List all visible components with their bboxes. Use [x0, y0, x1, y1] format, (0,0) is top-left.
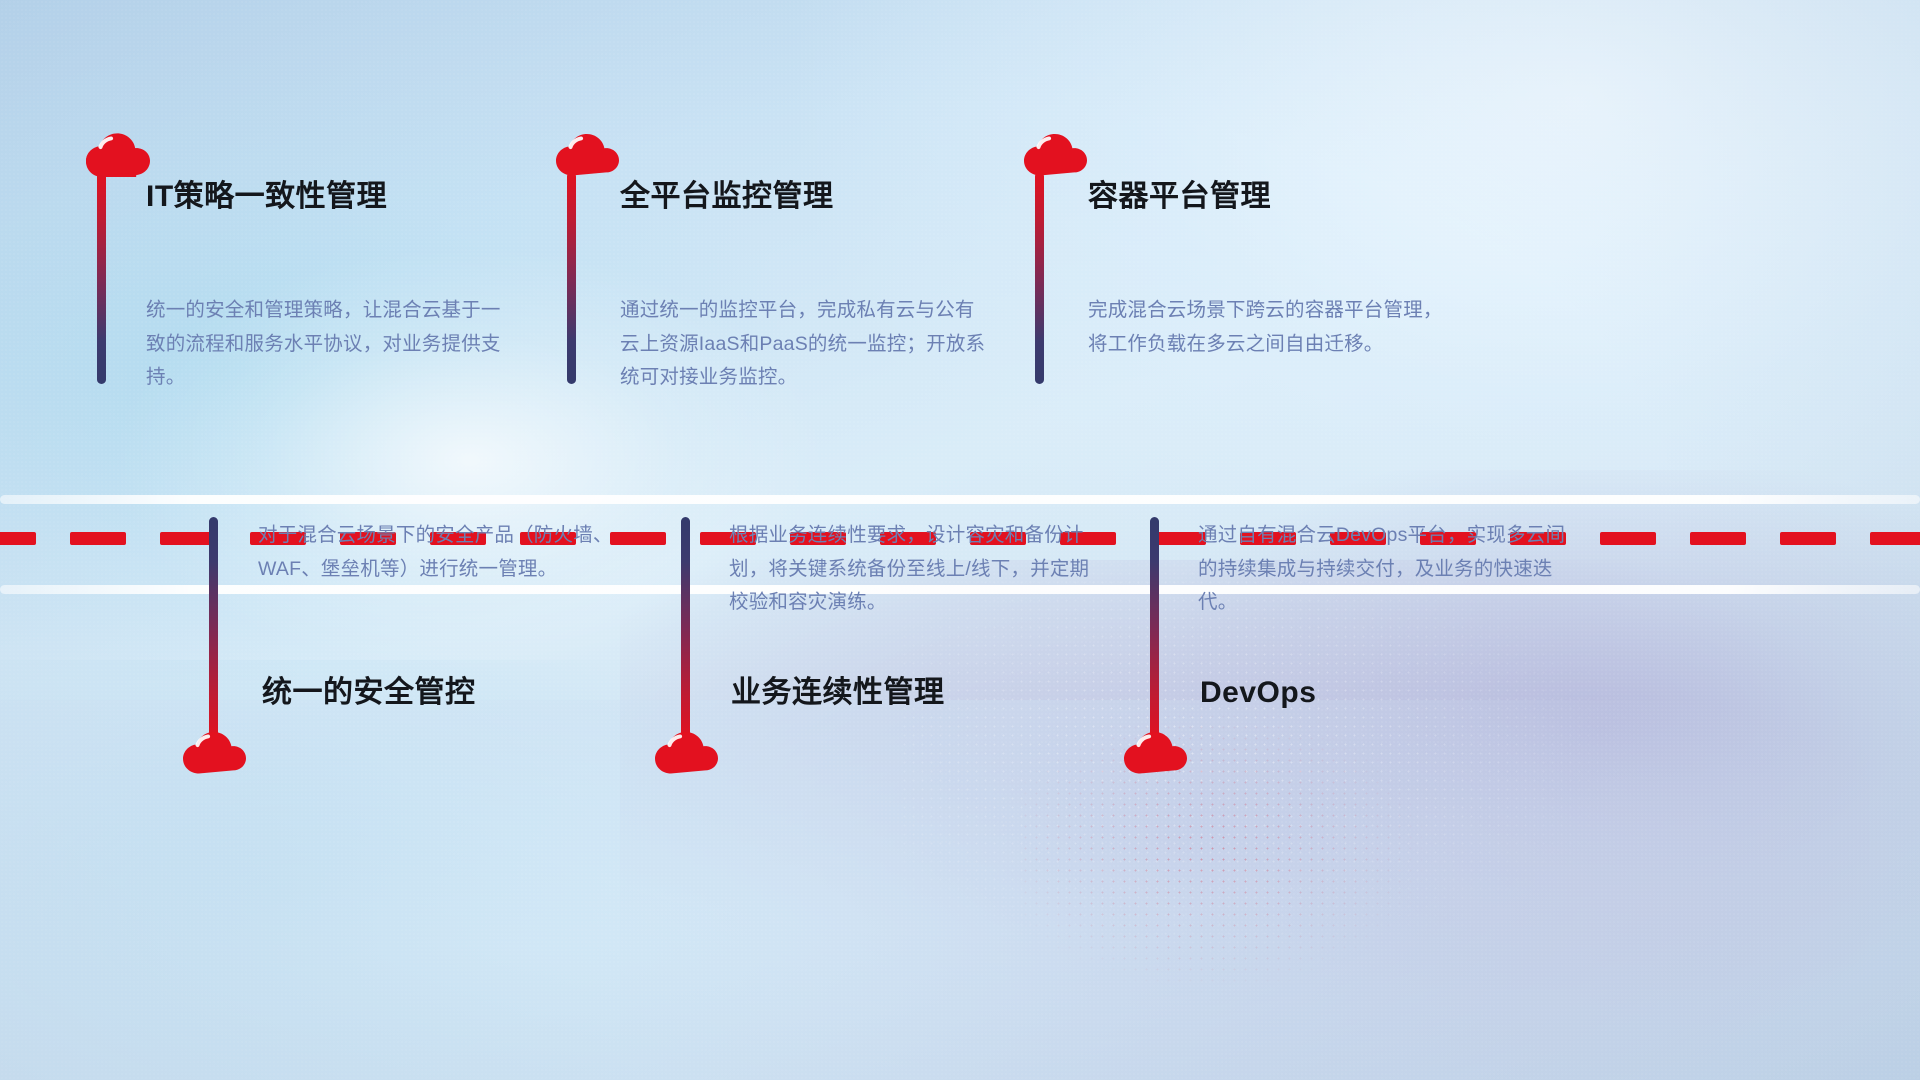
bottom-item-2-body: 根据业务连续性要求，设计容灾和备份计划，将关键系统备份至线上/线下，并定期校验和… — [729, 519, 1101, 620]
divider-rule-top — [0, 495, 1920, 504]
bottom-item-1-title: 统一的安全管控 — [262, 678, 476, 708]
timeline-pin — [1035, 172, 1044, 384]
cloud-icon — [554, 130, 620, 178]
divider-dash — [1780, 532, 1836, 545]
bottom-item-3-body: 通过自有混合云DevOps平台，实现多云间的持续集成与持续交付，及业务的快速迭代… — [1198, 519, 1570, 620]
bottom-item-2-title: 业务连续性管理 — [731, 678, 945, 708]
top-item-2-title: 全平台监控管理 — [620, 182, 834, 212]
top-item-2-body: 通过统一的监控平台，完成私有云与公有云上资源IaaS和PaaS的统一监控；开放系… — [620, 294, 992, 395]
top-item-1-body: 统一的安全和管理策略，让混合云基于一致的流程和服务水平协议，对业务提供支持。 — [146, 294, 506, 395]
cloud-icon — [1122, 728, 1188, 776]
top-item-3-title: 容器平台管理 — [1088, 182, 1271, 212]
bottom-item-3-title: DevOps — [1200, 678, 1316, 708]
cloud-icon — [653, 728, 719, 776]
timeline-pin — [1150, 517, 1159, 740]
divider-dash — [610, 532, 666, 545]
cloud-icon — [84, 130, 150, 178]
top-item-1-title: IT策略一致性管理 — [146, 182, 387, 212]
timeline-pin — [681, 517, 690, 740]
cloud-icon — [1022, 130, 1088, 178]
cloud-icon — [181, 728, 247, 776]
divider-dash — [160, 532, 216, 545]
timeline-pin — [209, 517, 218, 740]
top-item-3-body: 完成混合云场景下跨云的容器平台管理，将工作负载在多云之间自由迁移。 — [1088, 294, 1460, 361]
bottom-item-1-body: 对于混合云场景下的安全产品（防火墙、WAF、堡垒机等）进行统一管理。 — [258, 519, 618, 586]
divider-dash — [70, 532, 126, 545]
divider-dash — [1870, 532, 1920, 545]
divider-dash — [0, 532, 36, 545]
divider-dash — [1690, 532, 1746, 545]
divider-dash — [1600, 532, 1656, 545]
timeline-pin — [97, 172, 106, 384]
timeline-pin — [567, 172, 576, 384]
